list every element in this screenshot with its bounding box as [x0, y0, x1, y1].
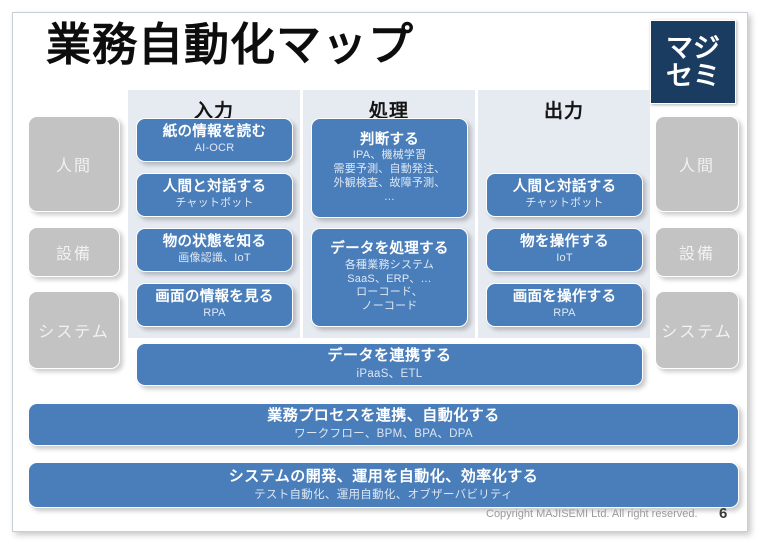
- page-title: 業務自動化マップ: [46, 22, 414, 67]
- card-output-operate-screen[interactable]: 画面を操作する RPA: [486, 283, 643, 327]
- card-input-know-object-state[interactable]: 物の状態を知る 画像認識、IoT: [136, 228, 293, 272]
- bar-system-automation[interactable]: システムの開発、運用を自動化、効率化する テスト自動化、運用自動化、オブザーバビ…: [28, 462, 739, 508]
- card-subtitle: チャットボット: [175, 197, 253, 211]
- copyright-text: Copyright MAJISEMI Ltd. All right reserv…: [486, 508, 698, 520]
- bar-subtitle: ワークフロー、BPM、BPA、DPA: [294, 427, 473, 441]
- majisemi-logo: マジ セミ: [650, 20, 736, 104]
- side-label-right-human: 人間: [655, 116, 739, 212]
- card-input-view-screen[interactable]: 画面の情報を見る RPA: [136, 283, 293, 327]
- logo-line-2: セミ: [666, 62, 720, 90]
- card-process-process-data[interactable]: データを処理する 各種業務システム SaaS、ERP、… ローコード、 ノーコー…: [311, 228, 468, 327]
- side-label-right-system: システム: [655, 291, 739, 369]
- bar-data-link[interactable]: データを連携する iPaaS、ETL: [136, 343, 643, 386]
- card-subtitle: IoT: [556, 252, 573, 266]
- card-subtitle: RPA: [203, 307, 225, 321]
- side-label-right-equipment: 設備: [655, 227, 739, 277]
- card-title: 人間と対話する: [513, 179, 617, 196]
- side-label-left-equipment: 設備: [28, 227, 120, 277]
- card-input-read-paper[interactable]: 紙の情報を読む AI-OCR: [136, 118, 293, 162]
- column-header-output: 出力: [478, 96, 650, 123]
- card-subtitle: チャットボット: [525, 197, 603, 211]
- card-process-decide[interactable]: 判断する IPA、機械学習 需要予測、自動発注、 外観検査、故障予測、 …: [311, 118, 468, 218]
- card-input-talk-with-human[interactable]: 人間と対話する チャットボット: [136, 173, 293, 217]
- bar-subtitle: iPaaS、ETL: [357, 367, 423, 381]
- card-title: 物を操作する: [520, 234, 609, 251]
- card-title: 画面の情報を見る: [155, 289, 273, 306]
- bar-process-automation[interactable]: 業務プロセスを連携、自動化する ワークフロー、BPM、BPA、DPA: [28, 403, 739, 446]
- bar-title: データを連携する: [327, 347, 451, 365]
- card-subtitle: 画像認識、IoT: [178, 252, 251, 266]
- card-title: 判断する: [360, 132, 419, 149]
- slide-canvas: 業務自動化マップ マジ セミ 入力 処理 出力 人間 設備 システム 人間 設備…: [0, 0, 768, 555]
- bar-subtitle: テスト自動化、運用自動化、オブザーバビリティ: [254, 488, 513, 502]
- side-label-left-system: システム: [28, 291, 120, 369]
- card-title: 物の状態を知る: [163, 234, 267, 251]
- card-subtitle: AI-OCR: [195, 142, 235, 156]
- bar-title: システムの開発、運用を自動化、効率化する: [229, 468, 539, 486]
- side-label-left-human: 人間: [28, 116, 120, 212]
- card-output-operate-object[interactable]: 物を操作する IoT: [486, 228, 643, 272]
- card-subtitle: 各種業務システム SaaS、ERP、… ローコード、 ノーコード: [345, 259, 434, 314]
- card-subtitle: RPA: [553, 307, 575, 321]
- card-title: データを処理する: [330, 241, 448, 258]
- card-title: 画面を操作する: [513, 289, 617, 306]
- logo-line-1: マジ: [666, 34, 720, 62]
- page-number: 6: [719, 505, 727, 522]
- card-output-talk-with-human[interactable]: 人間と対話する チャットボット: [486, 173, 643, 217]
- bar-title: 業務プロセスを連携、自動化する: [267, 407, 500, 425]
- card-title: 人間と対話する: [163, 179, 267, 196]
- card-subtitle: IPA、機械学習 需要予測、自動発注、 外観検査、故障予測、 …: [334, 149, 446, 204]
- card-title: 紙の情報を読む: [163, 124, 267, 141]
